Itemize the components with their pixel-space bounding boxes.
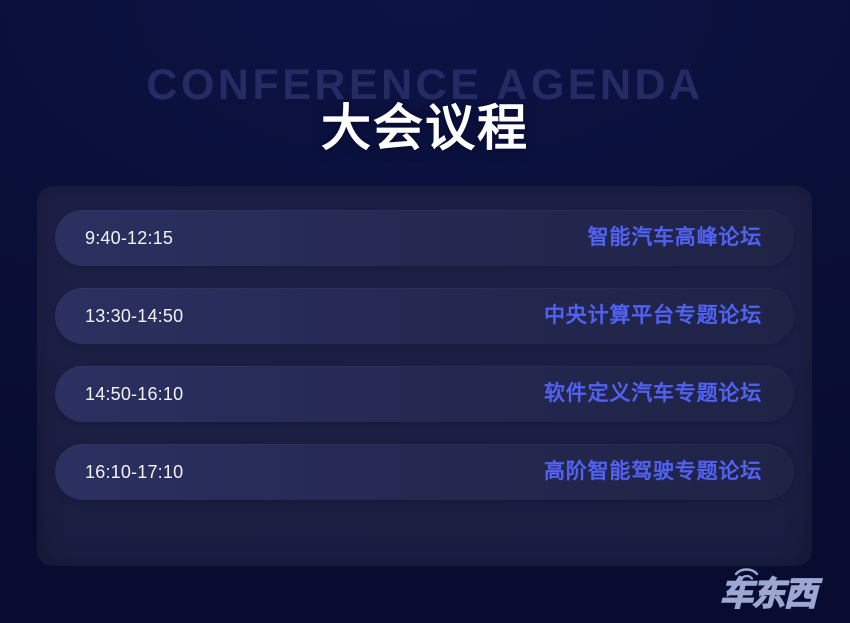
agenda-row-forum: 智能汽车高峰论坛	[588, 225, 762, 251]
agenda-card: 9:40-12:15 智能汽车高峰论坛 13:30-14:50 中央计算平台专题…	[37, 186, 812, 566]
page-title: 大会议程	[0, 98, 850, 158]
agenda-row-time: 13:30-14:50	[85, 305, 183, 327]
agenda-row-forum: 中央计算平台专题论坛	[544, 303, 762, 329]
agenda-row-time: 9:40-12:15	[85, 227, 173, 249]
agenda-row[interactable]: 16:10-17:10 高阶智能驾驶专题论坛	[55, 444, 794, 500]
agenda-row-list: 9:40-12:15 智能汽车高峰论坛 13:30-14:50 中央计算平台专题…	[55, 210, 794, 546]
title-block: CONFERENCE AGENDA 大会议程	[0, 62, 850, 172]
agenda-slide: CONFERENCE AGENDA 大会议程 9:40-12:15 智能汽车高峰…	[0, 0, 850, 623]
agenda-row-forum: 软件定义汽车专题论坛	[544, 381, 762, 407]
agenda-row[interactable]: 14:50-16:10 软件定义汽车专题论坛	[55, 366, 794, 422]
watermark-text: 车东西	[720, 574, 823, 613]
agenda-row[interactable]: 13:30-14:50 中央计算平台专题论坛	[55, 288, 794, 344]
wifi-arc-icon: 车东西	[714, 559, 834, 615]
chedongxi-logo-watermark: 车东西	[714, 559, 834, 615]
agenda-row[interactable]: 9:40-12:15 智能汽车高峰论坛	[55, 210, 794, 266]
agenda-row-forum: 高阶智能驾驶专题论坛	[544, 459, 762, 485]
agenda-row-time: 14:50-16:10	[85, 383, 183, 405]
agenda-row-time: 16:10-17:10	[85, 461, 183, 483]
